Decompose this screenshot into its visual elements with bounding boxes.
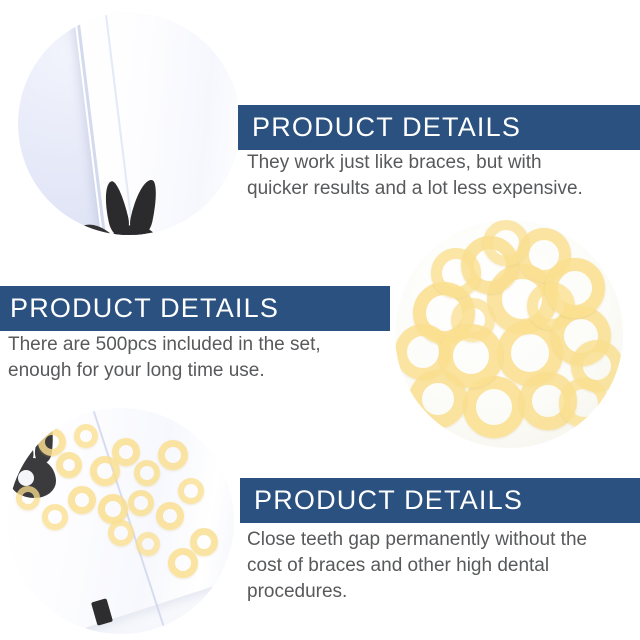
elastic-ring — [559, 378, 609, 428]
product-photo-bag-bunny — [18, 13, 240, 235]
elastic-ring — [90, 456, 120, 486]
product-photo-rings-on-bag — [8, 408, 234, 634]
elastic-ring — [156, 502, 184, 530]
elastic-ring — [168, 548, 198, 578]
infographic-canvas: PRODUCT DETAILS They work just like brac… — [0, 0, 640, 640]
section-3-body-text: Close teeth gap permanently without the … — [247, 527, 632, 605]
section-3-heading-banner: PRODUCT DETAILS — [240, 478, 640, 523]
elastic-ring — [108, 520, 134, 546]
elastic-ring — [42, 504, 68, 530]
section-2-heading-banner: PRODUCT DETAILS — [0, 286, 390, 331]
elastic-ring — [431, 248, 481, 298]
bunny-print-graphic — [86, 181, 206, 235]
section-2-heading-text: PRODUCT DETAILS — [10, 293, 279, 324]
elastic-ring — [134, 460, 160, 486]
elastic-ring — [128, 490, 154, 516]
elastic-ring — [483, 220, 529, 266]
elastic-ring — [74, 424, 98, 448]
elastic-ring — [16, 486, 40, 510]
bunny-eye-icon — [18, 470, 34, 486]
elastic-ring — [136, 532, 160, 556]
elastic-ring — [68, 486, 96, 514]
section-2-body-text: There are 500pcs included in the set, en… — [8, 332, 388, 384]
section-1-body-text: They work just like braces, but with qui… — [247, 150, 632, 202]
section-1-heading-banner: PRODUCT DETAILS — [238, 105, 640, 150]
elastic-ring — [178, 478, 204, 504]
elastic-ring — [56, 452, 82, 478]
elastic-ring — [158, 440, 188, 470]
elastic-ring — [409, 370, 467, 428]
section-1-heading-text: PRODUCT DETAILS — [252, 112, 521, 143]
section-3-heading-text: PRODUCT DETAILS — [254, 485, 523, 516]
elastic-ring — [545, 258, 605, 318]
elastic-ring — [190, 528, 218, 556]
elastic-ring — [38, 428, 66, 456]
product-photo-rings-pile — [395, 220, 623, 448]
